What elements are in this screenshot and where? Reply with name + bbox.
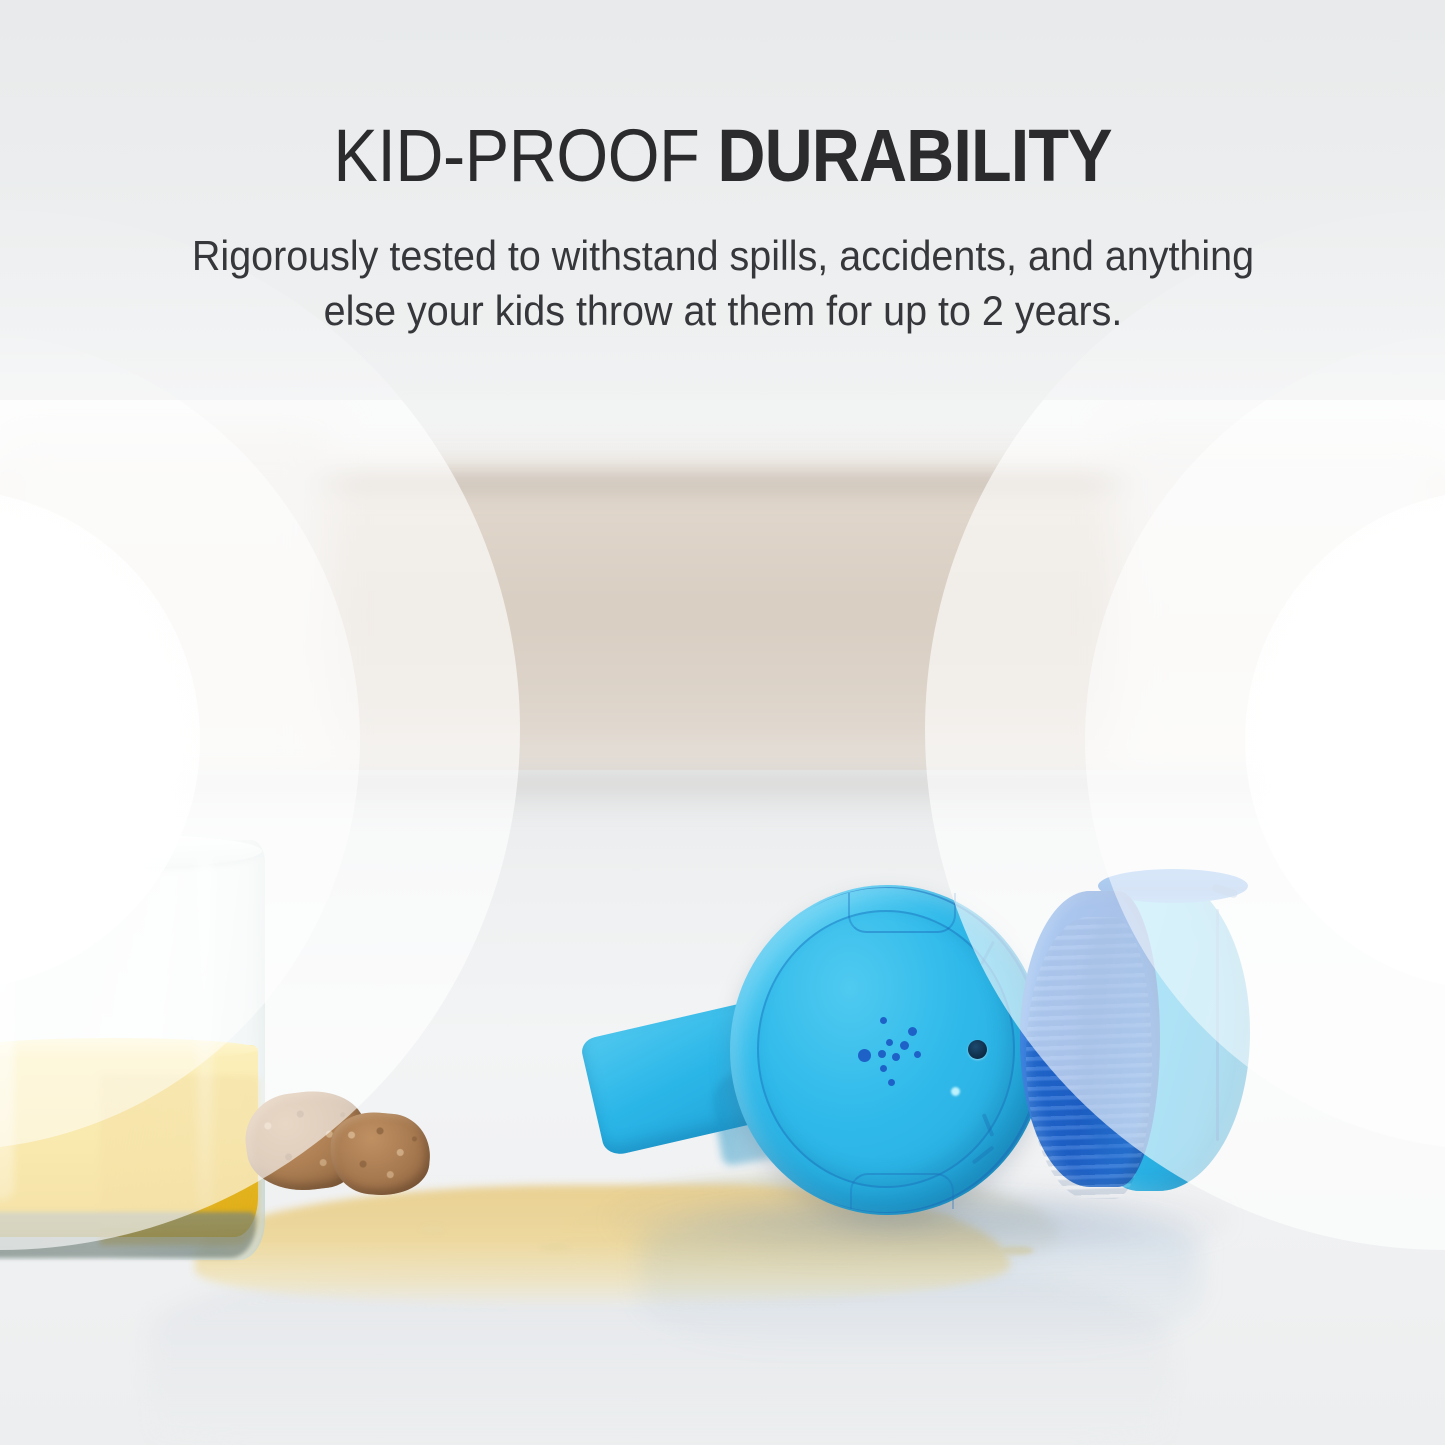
banner-text-block: KID-PROOF DURABILITY Rigorously tested t…: [0, 0, 1445, 339]
product-feature-banner: KID-PROOF DURABILITY Rigorously tested t…: [0, 0, 1445, 1445]
banner-subheadline: Rigorously tested to withstand spills, a…: [163, 229, 1282, 338]
juice-droplet: [420, 1225, 446, 1234]
belkin-logo-icon: [858, 1017, 934, 1087]
earcup-seam: [850, 1173, 954, 1209]
aux-port-icon: [968, 1040, 987, 1059]
earcup-seam: [848, 893, 956, 933]
page-title: KID-PROOF DURABILITY: [72, 118, 1373, 193]
subheadline-line-1: Rigorously tested to withstand spills, a…: [163, 229, 1282, 284]
status-led-icon: [951, 1087, 960, 1096]
headline-light-part: KID-PROOF: [333, 114, 717, 197]
subheadline-line-2: else your kids throw at them for up to 2…: [163, 284, 1282, 339]
headline-bold-part: DURABILITY: [717, 114, 1111, 197]
